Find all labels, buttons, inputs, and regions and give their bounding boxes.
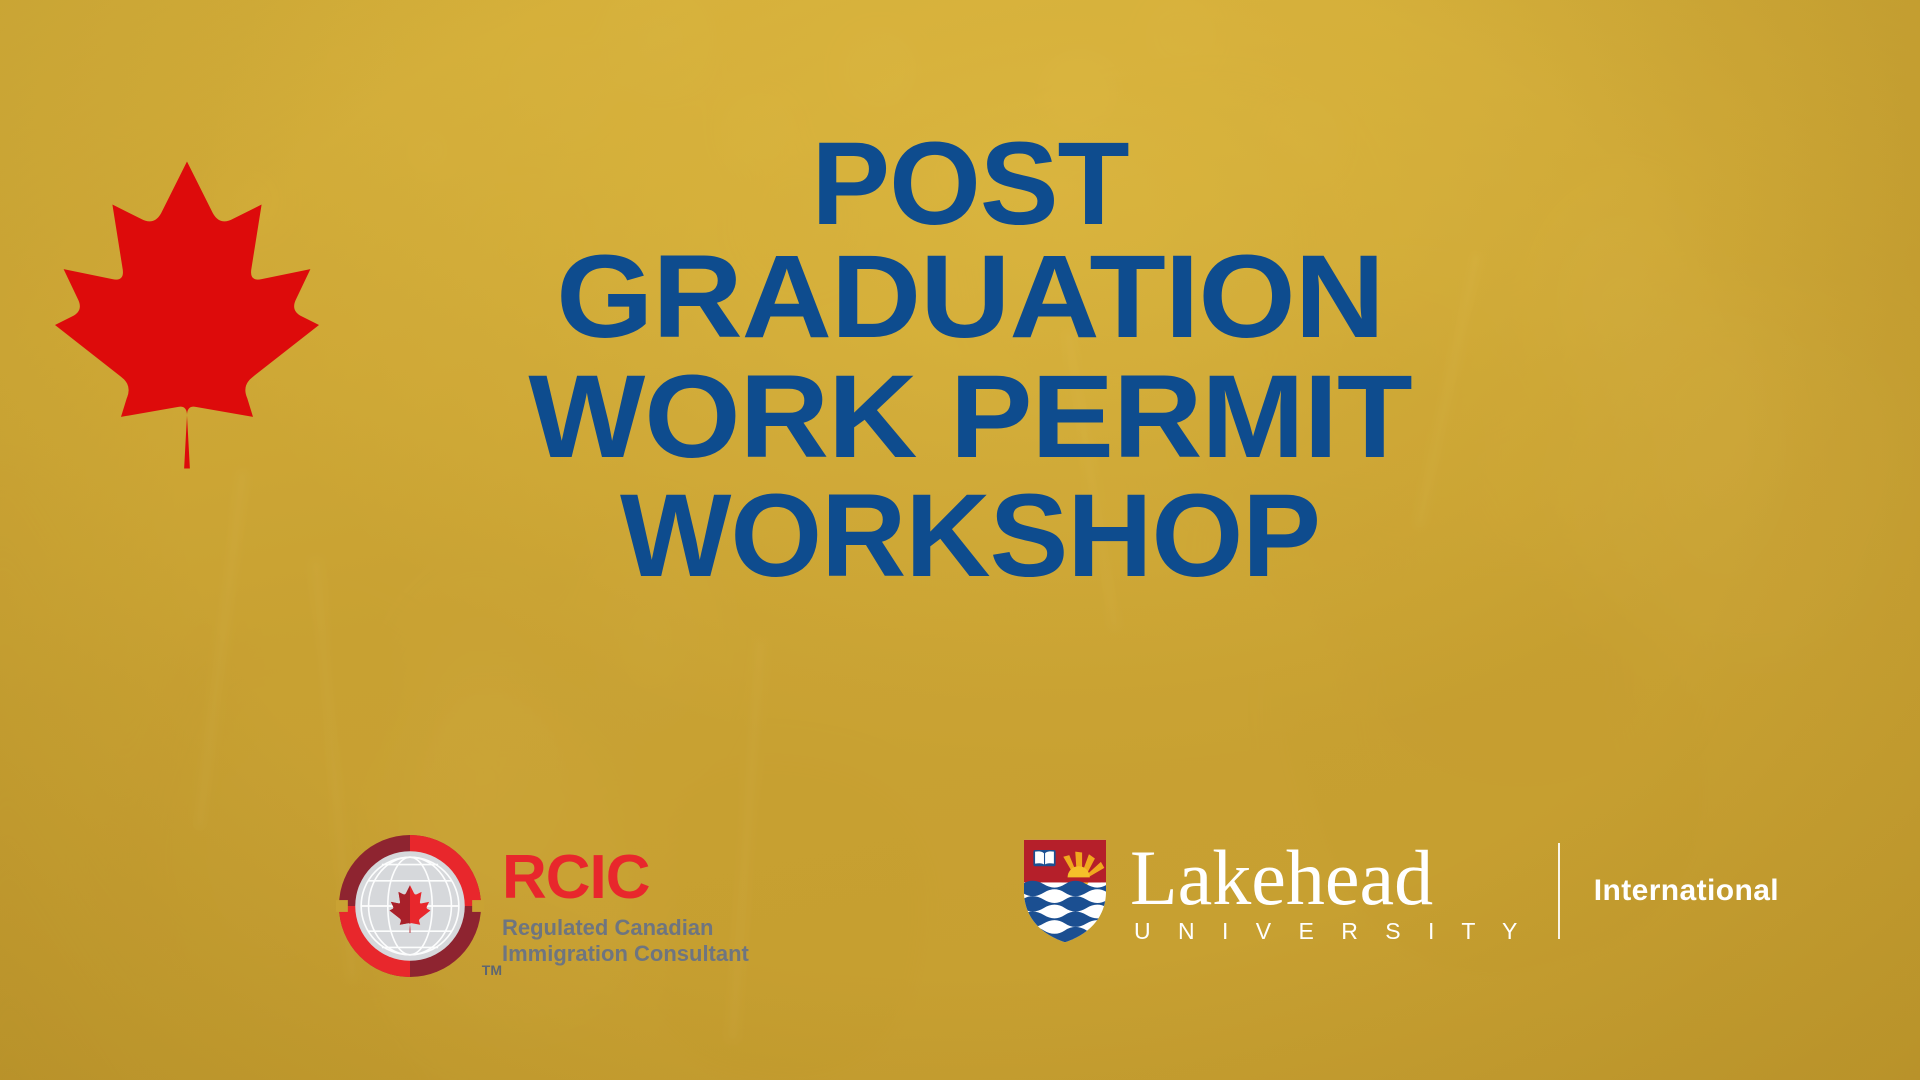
logo-strip: TM RCIC Regulated Canadian Immigration C…: [0, 820, 1920, 1080]
rcic-trademark: TM: [482, 962, 502, 978]
lakehead-wordmark: Lakehead U N I V E R S I T Y: [1130, 838, 1528, 945]
lakehead-university-label: U N I V E R S I T Y: [1130, 918, 1528, 945]
rcic-subtitle-line-2: Immigration Consultant: [502, 941, 749, 967]
rcic-roundel-icon: TM: [336, 832, 484, 980]
rcic-wordmark: RCIC Regulated Canadian Immigration Cons…: [502, 845, 749, 967]
title-line-4: WORKSHOP: [380, 480, 1560, 593]
maple-leaf-icon: [42, 150, 332, 480]
lakehead-logo: Lakehead U N I V E R S I T Y Internation…: [1022, 838, 1779, 945]
rcic-subtitle: Regulated Canadian Immigration Consultan…: [502, 915, 749, 967]
rcic-acronym: RCIC: [502, 847, 749, 909]
rcic-logo: TM RCIC Regulated Canadian Immigration C…: [336, 832, 749, 980]
poster-canvas: POST GRADUATION WORK PERMIT WORKSHOP: [0, 0, 1920, 1080]
title-line-1: POST: [380, 128, 1560, 241]
lakehead-name: Lakehead: [1130, 842, 1528, 914]
title-line-2: GRADUATION: [345, 241, 1596, 354]
title-line-3: WORK PERMIT: [351, 361, 1590, 474]
rcic-subtitle-line-1: Regulated Canadian: [502, 915, 749, 941]
lakehead-divider: [1558, 843, 1560, 939]
lakehead-international-label: International: [1594, 874, 1779, 908]
page-title: POST GRADUATION WORK PERMIT WORKSHOP: [380, 128, 1560, 593]
lakehead-shield-icon: [1022, 838, 1108, 944]
